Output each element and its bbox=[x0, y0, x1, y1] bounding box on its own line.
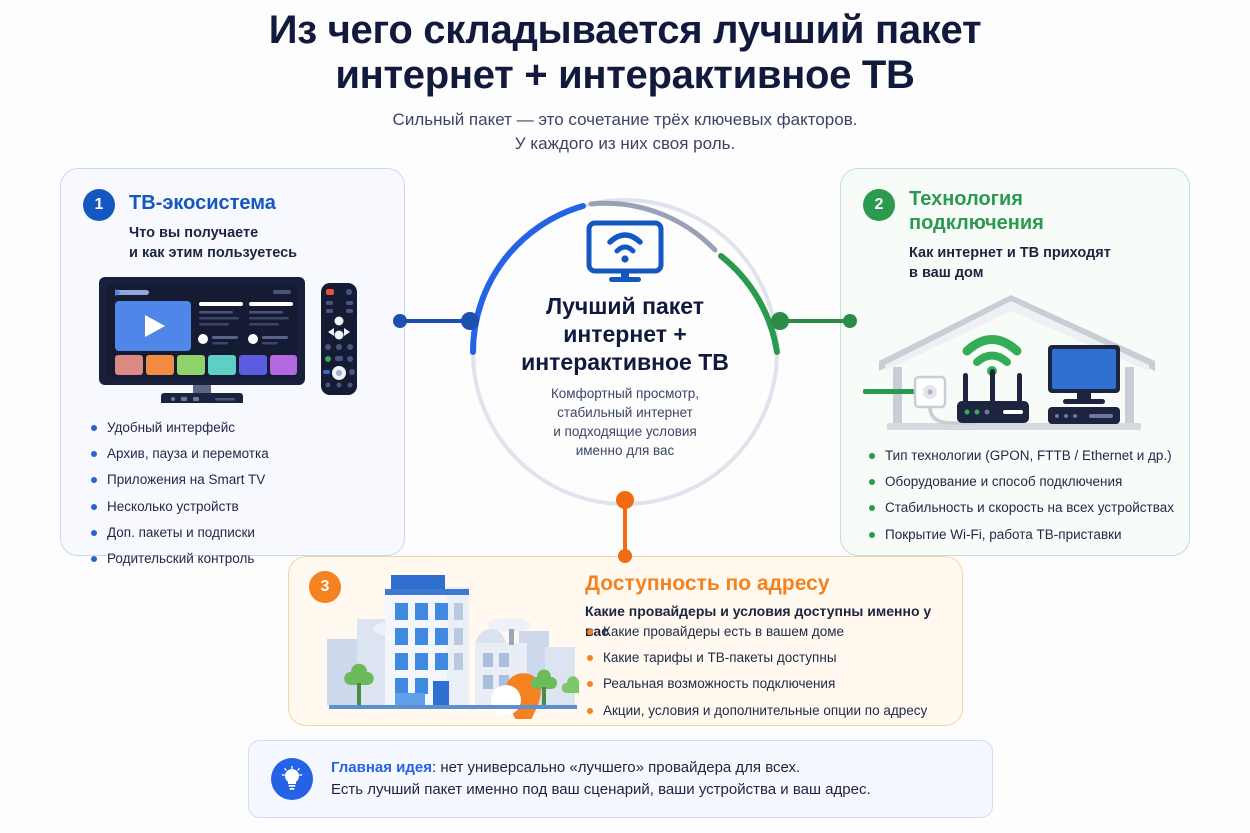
card-3-title: Доступность по адресу bbox=[585, 571, 955, 596]
lightbulb-badge bbox=[271, 758, 313, 800]
card-2-sub-line-2: в ваш дом bbox=[909, 263, 1174, 283]
hub-description: Комфортный просмотр, стабильный интернет… bbox=[551, 385, 699, 461]
card-2-title-line-2: подключения bbox=[909, 211, 1174, 235]
city-illustration bbox=[323, 567, 579, 719]
card-2-sub-line-1: Как интернет и ТВ приходят bbox=[909, 243, 1174, 263]
card-1-sub-line-1: Что вы получаете bbox=[129, 223, 394, 243]
hub-title-line-2: интернет + bbox=[521, 320, 729, 348]
hub-desc-line-2: стабильный интернет bbox=[551, 404, 699, 423]
hub-title-line-3: интерактивное ТВ bbox=[521, 348, 729, 376]
key-idea-banner: Главная идея: нет универсально «лучшего»… bbox=[248, 740, 993, 818]
card-tv-ecosystem[interactable]: 1 ТВ-экосистема Что вы получаете и как э… bbox=[60, 168, 405, 556]
list-item: Удобный интерфейс bbox=[89, 419, 389, 437]
hub-desc-line-4: именно для вас bbox=[551, 442, 699, 461]
key-idea-line-1: Главная идея: нет универсально «лучшего»… bbox=[331, 757, 871, 780]
hub-content: Лучший пакет интернет + интерактивное ТВ… bbox=[465, 192, 785, 512]
title-line-1: Из чего складывается лучший пакет bbox=[269, 8, 981, 52]
page-header: Из чего складывается лучший пакет интерн… bbox=[0, 8, 1250, 157]
key-idea-line-1-rest: : нет универсально «лучшего» провайдера … bbox=[432, 759, 800, 776]
list-item: Какие провайдеры есть в вашем доме bbox=[585, 623, 955, 641]
list-item: Приложения на Smart TV bbox=[89, 471, 389, 489]
list-item: Тип технологии (GPON, FTTB / Ethernet и … bbox=[867, 447, 1187, 465]
subtitle-line-1: Сильный пакет — это сочетание трёх ключе… bbox=[0, 108, 1250, 133]
hub-title-line-1: Лучший пакет bbox=[521, 292, 729, 320]
key-idea-line-2: Есть лучший пакет именно под ваш сценари… bbox=[331, 779, 871, 802]
smart-tv-illustration bbox=[97, 275, 367, 403]
key-idea-text: Главная идея: нет универсально «лучшего»… bbox=[331, 757, 871, 802]
connector-right-green bbox=[770, 308, 860, 334]
hub-title: Лучший пакет интернет + интерактивное ТВ bbox=[521, 292, 729, 376]
card-badge-2: 2 bbox=[863, 189, 895, 221]
page-subtitle: Сильный пакет — это сочетание трёх ключе… bbox=[0, 108, 1250, 157]
list-item: Реальная возможность подключения bbox=[585, 675, 955, 693]
card-2-title: Технология подключения bbox=[909, 187, 1174, 235]
list-item: Какие тарифы и ТВ-пакеты доступны bbox=[585, 649, 955, 667]
hub-desc-line-3: и подходящие условия bbox=[551, 423, 699, 442]
list-item: Несколько устройств bbox=[89, 498, 389, 516]
tv-wifi-icon bbox=[583, 220, 667, 284]
list-item: Оборудование и способ подключения bbox=[867, 473, 1187, 491]
list-item: Стабильность и скорость на всех устройст… bbox=[867, 499, 1187, 517]
page-title: Из чего складывается лучший пакет интерн… bbox=[0, 8, 1250, 98]
card-connection-technology[interactable]: 2 Технология подключения Как интернет и … bbox=[840, 168, 1190, 556]
center-hub: Лучший пакет интернет + интерактивное ТВ… bbox=[465, 192, 785, 512]
list-item: Покрытие Wi-Fi, работа ТВ-приставки bbox=[867, 526, 1187, 544]
title-line-2: интернет + интерактивное ТВ bbox=[0, 53, 1250, 98]
house-illustration bbox=[863, 285, 1169, 435]
list-item: Доп. пакеты и подписки bbox=[89, 524, 389, 542]
infographic-page: Из чего складывается лучший пакет интерн… bbox=[0, 0, 1250, 833]
card-badge-1: 1 bbox=[83, 189, 115, 221]
card-2-bullet-list: Тип технологии (GPON, FTTB / Ethernet и … bbox=[867, 447, 1187, 552]
card-2-title-line-1: Технология bbox=[909, 187, 1174, 211]
key-idea-lead: Главная идея bbox=[331, 759, 432, 776]
card-2-subtitle: Как интернет и ТВ приходят в ваш дом bbox=[909, 243, 1174, 284]
subtitle-line-2: У каждого из них своя роль. bbox=[0, 132, 1250, 157]
connector-bottom-orange bbox=[612, 490, 638, 566]
card-1-title: ТВ-экосистема bbox=[129, 191, 394, 215]
card-1-bullet-list: Удобный интерфейс Архив, пауза и перемот… bbox=[89, 419, 389, 576]
card-1-subtitle: Что вы получаете и как этим пользуетесь bbox=[129, 223, 394, 264]
list-item: Акции, условия и дополнительные опции по… bbox=[585, 702, 955, 720]
list-item: Архив, пауза и перемотка bbox=[89, 445, 389, 463]
card-2-head: Технология подключения Как интернет и ТВ… bbox=[909, 187, 1174, 284]
hub-desc-line-1: Комфортный просмотр, bbox=[551, 385, 699, 404]
card-3-bullet-list: Какие провайдеры есть в вашем доме Какие… bbox=[585, 623, 955, 728]
card-1-sub-line-2: и как этим пользуетесь bbox=[129, 243, 394, 263]
card-address-availability[interactable]: 3 bbox=[288, 556, 963, 726]
card-1-head: ТВ-экосистема Что вы получаете и как эти… bbox=[129, 191, 394, 264]
connector-left-blue bbox=[390, 308, 480, 334]
lightbulb-icon bbox=[280, 766, 304, 792]
